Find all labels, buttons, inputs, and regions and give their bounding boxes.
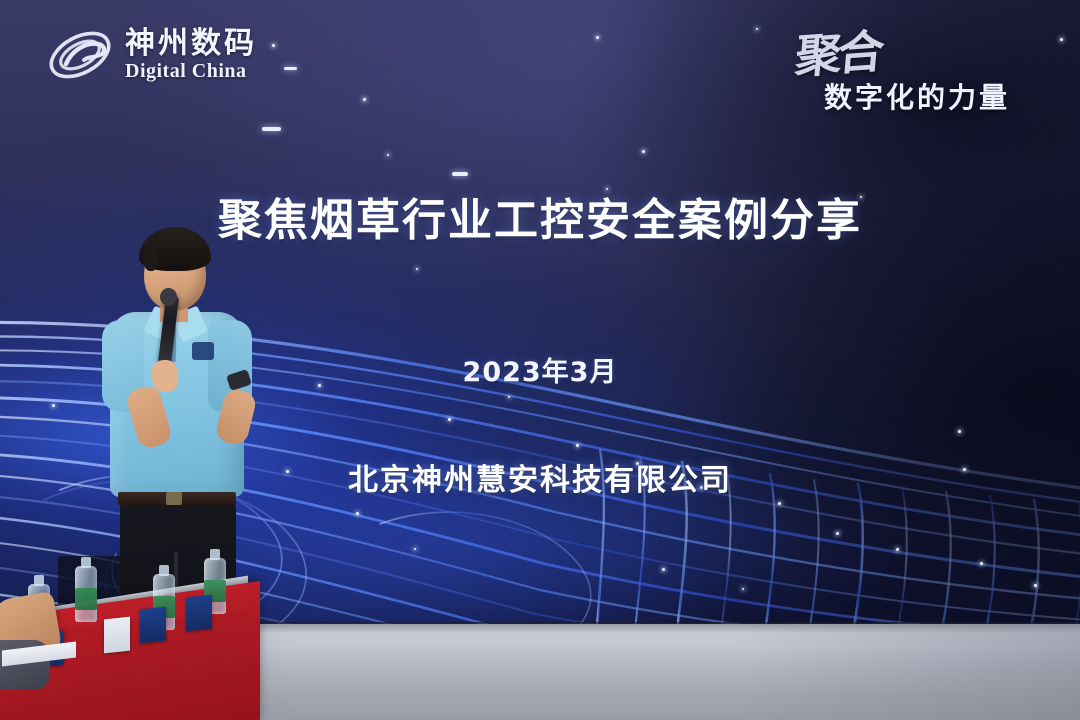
brand-name-cn: 神州数码 — [125, 29, 257, 60]
brand-name-en: Digital China — [125, 61, 257, 81]
water-bottle — [75, 566, 97, 622]
name-card — [186, 595, 212, 632]
brand-text: 神州数码 Digital China — [125, 29, 257, 82]
brand-logo: 神州数码 Digital China — [44, 24, 257, 86]
presenter-hair — [139, 227, 211, 271]
microphone-head — [160, 288, 177, 306]
event-logo: 聚合 数字化的力量 — [782, 18, 1052, 118]
presenter-belt-buckle — [166, 492, 182, 505]
event-tagline: 数字化的力量 — [824, 76, 1010, 116]
presenter-shirt-logo — [192, 342, 214, 360]
name-card — [104, 617, 130, 654]
conference-stage-photo: 聚焦烟草行业工控安全案例分享 2023年3月 北京神州慧安科技有限公司 神州数码… — [0, 0, 1080, 720]
name-card — [140, 607, 166, 644]
galaxy-swirl-icon — [44, 24, 116, 86]
